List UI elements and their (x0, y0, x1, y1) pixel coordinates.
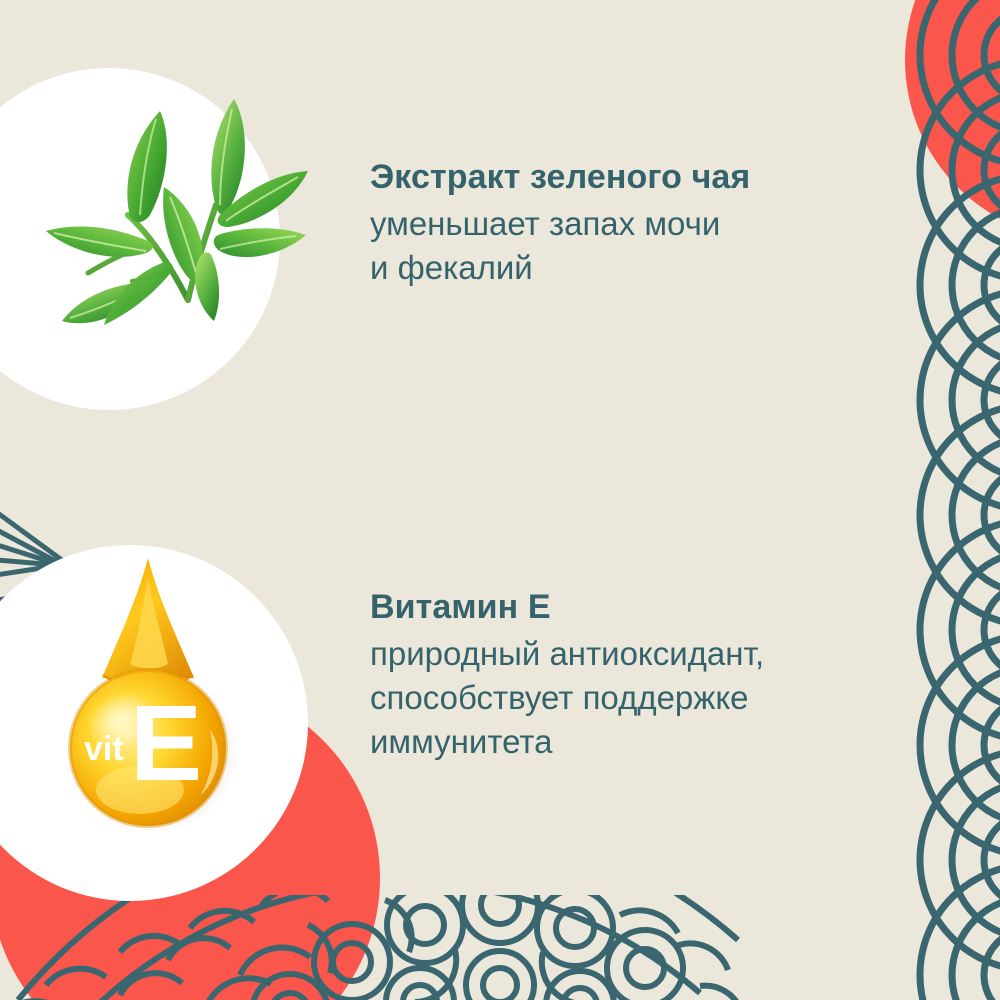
vitamin-e-body-line-3: иммунитета (370, 720, 764, 764)
vitamin-e-body-line-2: способствует поддержке (370, 676, 764, 720)
green-tea-title: Экстракт зеленого чая (370, 158, 750, 196)
svg-text:E: E (130, 682, 202, 803)
svg-text:vit: vit (84, 730, 124, 768)
poster-canvas: Экстракт зеленого чая уменьшает запах мо… (0, 0, 1000, 1000)
vitamin-e-body-line-1: природный антиоксидант, (370, 632, 764, 676)
vitamin-e-text-block: Витамин Е природный антиоксидант, способ… (370, 588, 764, 764)
green-tea-body-line-2: и фекалий (370, 246, 750, 290)
vitamin-e-oil-drop: vit E (48, 552, 248, 832)
green-tea-body-line-1: уменьшает запах мочи (370, 202, 750, 246)
vitamin-e-title: Витамин Е (370, 588, 764, 626)
green-tea-leaves-photo (20, 75, 310, 340)
green-tea-text-block: Экстракт зеленого чая уменьшает запах мо… (370, 158, 750, 290)
red-blob-top-right (905, 0, 1000, 240)
